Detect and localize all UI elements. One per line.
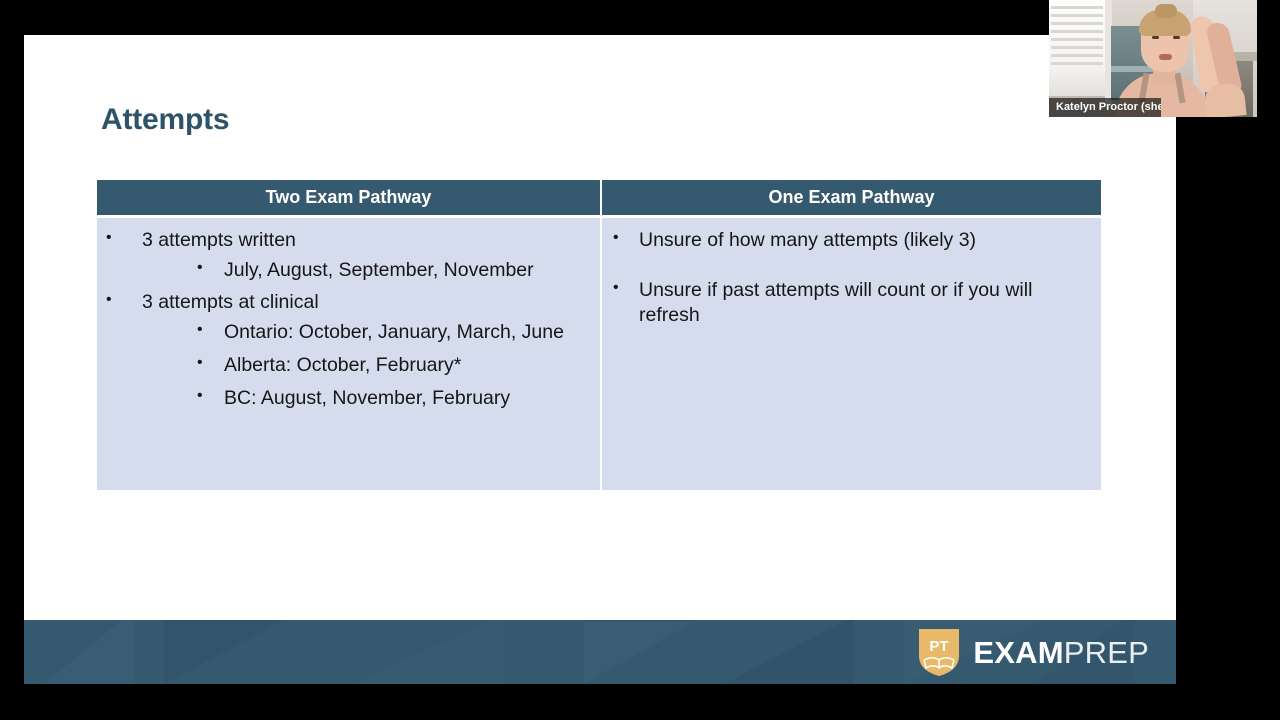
sub-bullet-list: Ontario: October, January, March, June A… (142, 320, 600, 411)
shield-icon: PT (916, 626, 962, 678)
sub-list-item: Alberta: October, February* (197, 353, 600, 379)
bullet-text: 3 attempts written (142, 229, 296, 251)
sub-list-item: July, August, September, November (197, 258, 600, 284)
page-title: Attempts (101, 103, 229, 137)
sub-list-item: BC: August, November, February (197, 386, 600, 412)
footer-facet (164, 620, 284, 684)
table-cell-one-exam-pathway: Unsure of how many attempts (likely 3) U… (600, 218, 1101, 490)
table-body-row: 3 attempts written July, August, Septemb… (97, 215, 1101, 490)
pathway-comparison-table: Two Exam Pathway One Exam Pathway 3 atte… (97, 180, 1101, 490)
svg-text:PT: PT (930, 638, 949, 655)
video-stage: Attempts Two Exam Pathway One Exam Pathw… (0, 0, 1280, 720)
participant-hair-bun (1155, 4, 1177, 18)
bullet-list-one-exam: Unsure of how many attempts (likely 3) U… (602, 228, 1101, 329)
footer-facet (724, 620, 854, 684)
list-item: Unsure if past attempts will count or if… (613, 278, 1069, 329)
list-item: 3 attempts written July, August, Septemb… (106, 228, 600, 283)
slide-footer-band: PT EXAMPREP (24, 620, 1176, 684)
participant-eye-right (1173, 36, 1180, 39)
logo-text-prep: PREP (1064, 635, 1149, 670)
presentation-slide: Attempts Two Exam Pathway One Exam Pathw… (24, 35, 1176, 684)
logo-wordmark: EXAMPREP (973, 637, 1149, 668)
video-background-window (1049, 0, 1111, 96)
list-item: 3 attempts at clinical Ontario: October,… (106, 290, 600, 411)
sub-list-item: Ontario: October, January, March, June (197, 320, 600, 346)
footer-facet (354, 620, 504, 684)
participant-name-label: Katelyn Proctor (she... (1049, 98, 1161, 117)
logo-text-exam: EXAM (973, 635, 1063, 670)
participant-forearm (1203, 82, 1246, 117)
table-header-row: Two Exam Pathway One Exam Pathway (97, 180, 1101, 215)
bullet-text: 3 attempts at clinical (142, 291, 319, 313)
participant-mouth (1159, 54, 1172, 60)
table-cell-two-exam-pathway: 3 attempts written July, August, Septemb… (97, 218, 600, 490)
sub-bullet-list: July, August, September, November (142, 258, 600, 284)
participant-video-thumbnail[interactable]: Katelyn Proctor (she... (1049, 0, 1257, 117)
list-item: Unsure of how many attempts (likely 3) (613, 228, 1069, 254)
brand-logo: PT EXAMPREP (916, 626, 1149, 678)
footer-facet (44, 620, 134, 684)
table-header-two-exam-pathway: Two Exam Pathway (97, 180, 600, 215)
footer-facet (584, 622, 694, 684)
bullet-list-two-exam: 3 attempts written July, August, Septemb… (97, 228, 600, 411)
participant-eye-left (1152, 36, 1159, 39)
table-header-one-exam-pathway: One Exam Pathway (600, 180, 1101, 215)
